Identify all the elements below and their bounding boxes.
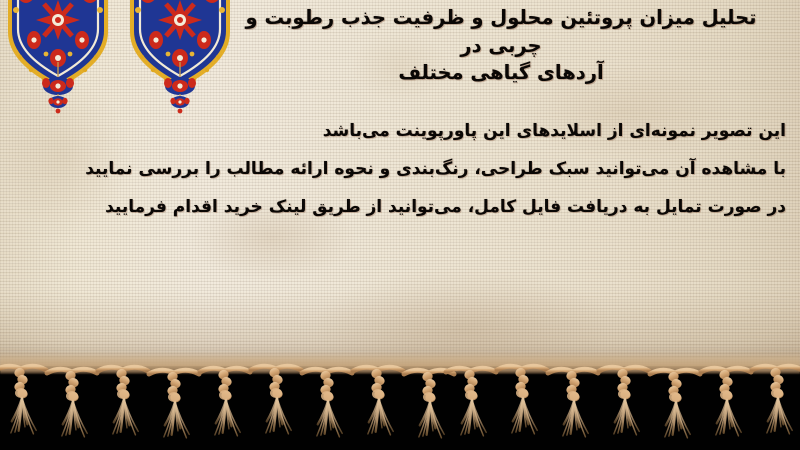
slide-body-line-1: این تصویر نمونه‌ای از اسلایدهای این پاور… (12, 112, 786, 150)
ornament-pendant-small (170, 96, 189, 113)
carpet-tassel-fringe (0, 352, 800, 450)
persian-carpet-medallion-ornament-left (6, 0, 110, 114)
ornament-pendant-small (48, 96, 67, 113)
presentation-slide: تحلیل میزان پروتئین محلول و ظرفیت جذب رط… (0, 0, 800, 450)
slide-body-line-2: با مشاهده آن می‌توانید سبک طراحی، رنگ‌بن… (12, 150, 786, 188)
persian-carpet-medallion-ornament-right (128, 0, 232, 114)
slide-title: تحلیل میزان پروتئین محلول و ظرفیت جذب رط… (218, 4, 784, 87)
slide-body-line-3: در صورت تمایل به دریافت فایل کامل، می‌تو… (12, 188, 786, 226)
fringe-tassels (0, 352, 800, 450)
slide-body: این تصویر نمونه‌ای از اسلایدهای این پاور… (12, 112, 786, 226)
slide-title-line-2: آردهای گیاهی مختلف (218, 59, 784, 87)
slide-title-line-1: تحلیل میزان پروتئین محلول و ظرفیت جذب رط… (218, 4, 784, 59)
